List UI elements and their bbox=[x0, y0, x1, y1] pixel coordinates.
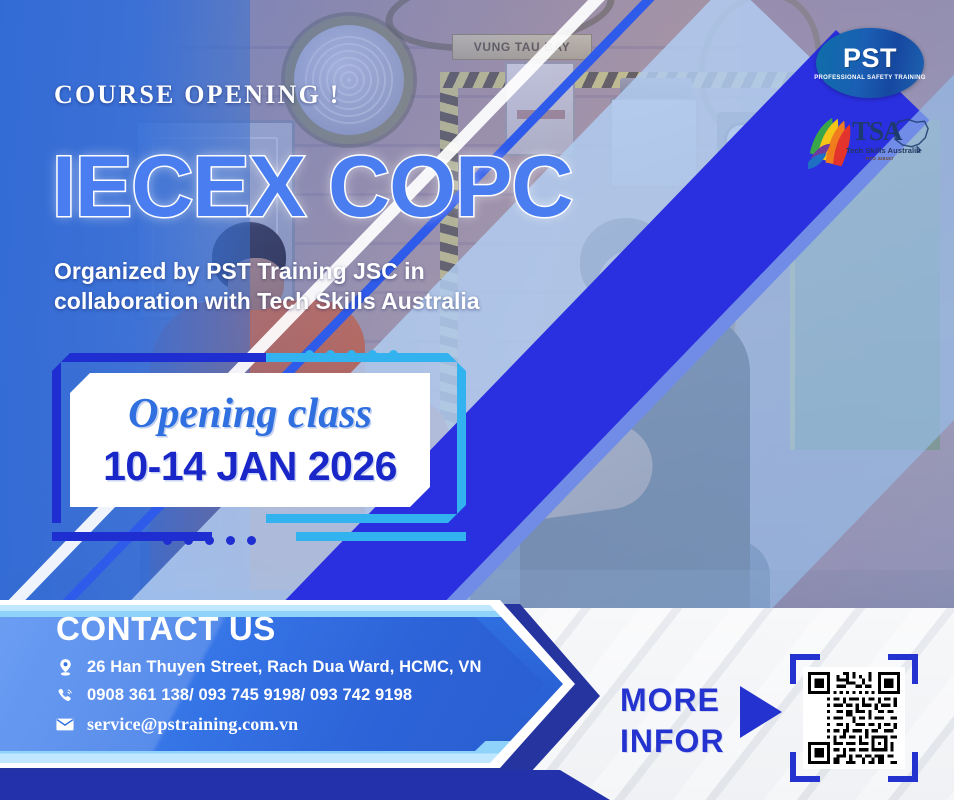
pst-logo-tagline: PROFESSIONAL SAFETY TRAINING bbox=[814, 75, 926, 81]
poster-root: VUNG TAU BAY PST bbox=[0, 0, 954, 800]
contact-row-phone: 0908 361 138/ 093 745 9198/ 093 742 9198 bbox=[56, 686, 486, 705]
bottom-navy-strip bbox=[0, 770, 610, 800]
australia-map-icon bbox=[886, 114, 932, 154]
more-info-label: MORE INFOR bbox=[620, 680, 725, 762]
eyebrow-text: COURSE OPENING ! bbox=[54, 80, 341, 110]
opening-class-label: Opening class bbox=[128, 393, 372, 435]
opening-class-card: Opening class 10-14 JAN 2026 bbox=[70, 373, 430, 507]
contact-email: service@pstraining.com.vn bbox=[87, 714, 298, 735]
dot-accent-dark bbox=[163, 536, 256, 545]
more-info-line-2: INFOR bbox=[620, 721, 725, 762]
subtitle-text: Organized by PST Training JSC in collabo… bbox=[54, 256, 494, 317]
contact-row-address: 26 Han Thuyen Street, Rach Dua Ward, HCM… bbox=[56, 658, 486, 677]
logo-group: PST PROFESSIONAL SAFETY TRAINING TSA Tec… bbox=[800, 28, 940, 174]
qr-code-block[interactable] bbox=[790, 654, 918, 782]
phone-icon bbox=[56, 687, 74, 705]
arrow-right-icon bbox=[740, 686, 782, 738]
envelope-icon bbox=[56, 716, 74, 734]
opening-class-block: Opening class 10-14 JAN 2026 bbox=[48, 345, 458, 535]
tsa-logo-tagline-secondary: RTO 326157 bbox=[866, 156, 894, 161]
contact-phone: 0908 361 138/ 093 745 9198/ 093 742 9198 bbox=[87, 686, 412, 705]
pst-logo-name: PST bbox=[843, 45, 897, 72]
more-info-line-1: MORE bbox=[620, 680, 725, 721]
opening-class-date: 10-14 JAN 2026 bbox=[103, 446, 397, 487]
contact-address: 26 Han Thuyen Street, Rach Dua Ward, HCM… bbox=[87, 658, 481, 677]
pst-logo: PST PROFESSIONAL SAFETY TRAINING bbox=[816, 28, 924, 98]
dot-accent-cyan bbox=[305, 350, 398, 359]
contact-title: CONTACT US bbox=[56, 612, 486, 645]
qr-code-image[interactable] bbox=[803, 667, 905, 769]
contact-content: CONTACT US 26 Han Thuyen Street, Rach Du… bbox=[56, 612, 486, 744]
frame-bar-cyan-bottom bbox=[296, 532, 466, 541]
location-pin-icon bbox=[56, 659, 74, 677]
page-title: IECEX COPC bbox=[52, 144, 572, 230]
tsa-logo: TSA Tech Skills Australia RTO 326157 bbox=[800, 112, 934, 174]
contact-row-email: service@pstraining.com.vn bbox=[56, 714, 486, 735]
